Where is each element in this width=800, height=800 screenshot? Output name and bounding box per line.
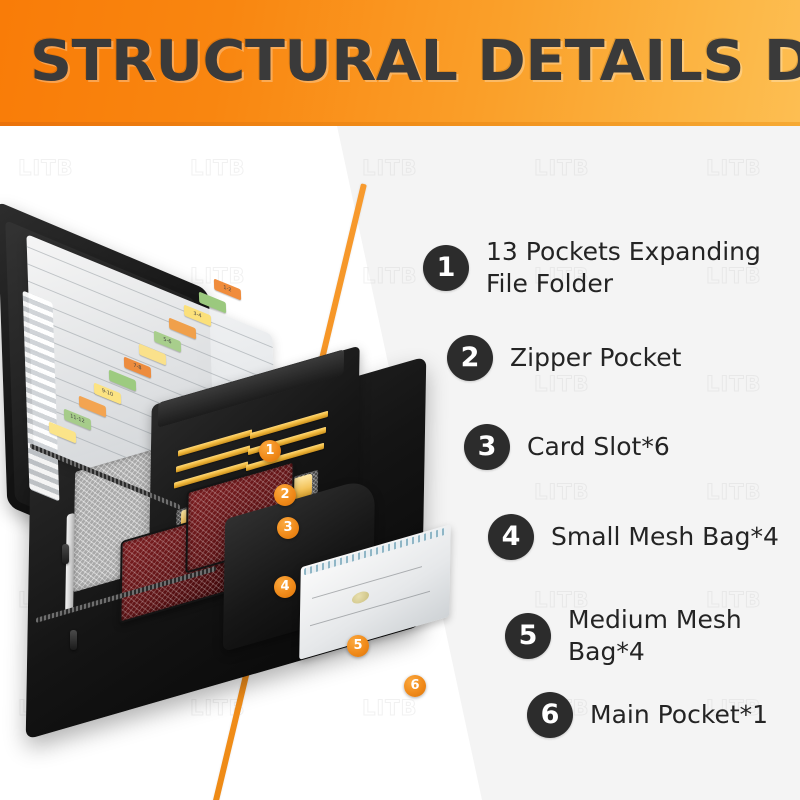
header-banner: STRUCTURAL DETAILS DISPLAY bbox=[0, 0, 800, 126]
callout-number-4: 4 bbox=[488, 514, 534, 560]
content-stage: LITBLITBLITBLITBLITBLITBLITBLITBLITBLITB… bbox=[0, 126, 800, 800]
callout-label-6: Main Pocket*1 bbox=[590, 699, 768, 731]
callout-number-1: 1 bbox=[423, 245, 469, 291]
callout-item-6[interactable]: 6 Main Pocket*1 bbox=[527, 692, 768, 738]
watermark-text: LITB bbox=[362, 696, 418, 720]
photo-badge-5: 5 bbox=[347, 635, 369, 657]
callout-number-2: 2 bbox=[447, 335, 493, 381]
callout-item-2[interactable]: 2 Zipper Pocket bbox=[447, 335, 681, 381]
callout-item-3[interactable]: 3 Card Slot*6 bbox=[464, 424, 670, 470]
callout-item-4[interactable]: 4 Small Mesh Bag*4 bbox=[488, 514, 779, 560]
photo-badge-1: 1 bbox=[259, 440, 281, 462]
page-title: STRUCTURAL DETAILS DISPLAY bbox=[30, 29, 800, 95]
callout-number-6: 6 bbox=[527, 692, 573, 738]
photo-badge-3: 3 bbox=[277, 517, 299, 539]
product-infographic: STRUCTURAL DETAILS DISPLAY LITBLITBLITBL… bbox=[0, 0, 800, 800]
zipper-pull bbox=[70, 630, 77, 650]
callout-label-1: 13 Pockets Expanding File Folder bbox=[486, 236, 761, 300]
photo-badge-2: 2 bbox=[274, 484, 296, 506]
index-tab: 1-2 bbox=[214, 278, 241, 300]
callout-item-1[interactable]: 1 13 Pockets Expanding File Folder bbox=[423, 236, 761, 300]
callout-label-2: Zipper Pocket bbox=[510, 342, 681, 374]
photo-badge-4: 4 bbox=[274, 576, 296, 598]
photo-badge-6: 6 bbox=[404, 675, 426, 697]
callout-label-5: Medium Mesh Bag*4 bbox=[568, 604, 800, 668]
product-photo: 1-23-45-67-89-1011-12 bbox=[0, 226, 460, 696]
callout-number-3: 3 bbox=[464, 424, 510, 470]
callout-number-5: 5 bbox=[505, 613, 551, 659]
callout-item-5[interactable]: 5 Medium Mesh Bag*4 bbox=[505, 604, 800, 668]
zipper-pull bbox=[62, 544, 69, 564]
callout-label-4: Small Mesh Bag*4 bbox=[551, 521, 779, 553]
watermark-text: LITB bbox=[190, 156, 246, 180]
watermark-text: LITB bbox=[18, 156, 74, 180]
callout-label-3: Card Slot*6 bbox=[527, 431, 670, 463]
